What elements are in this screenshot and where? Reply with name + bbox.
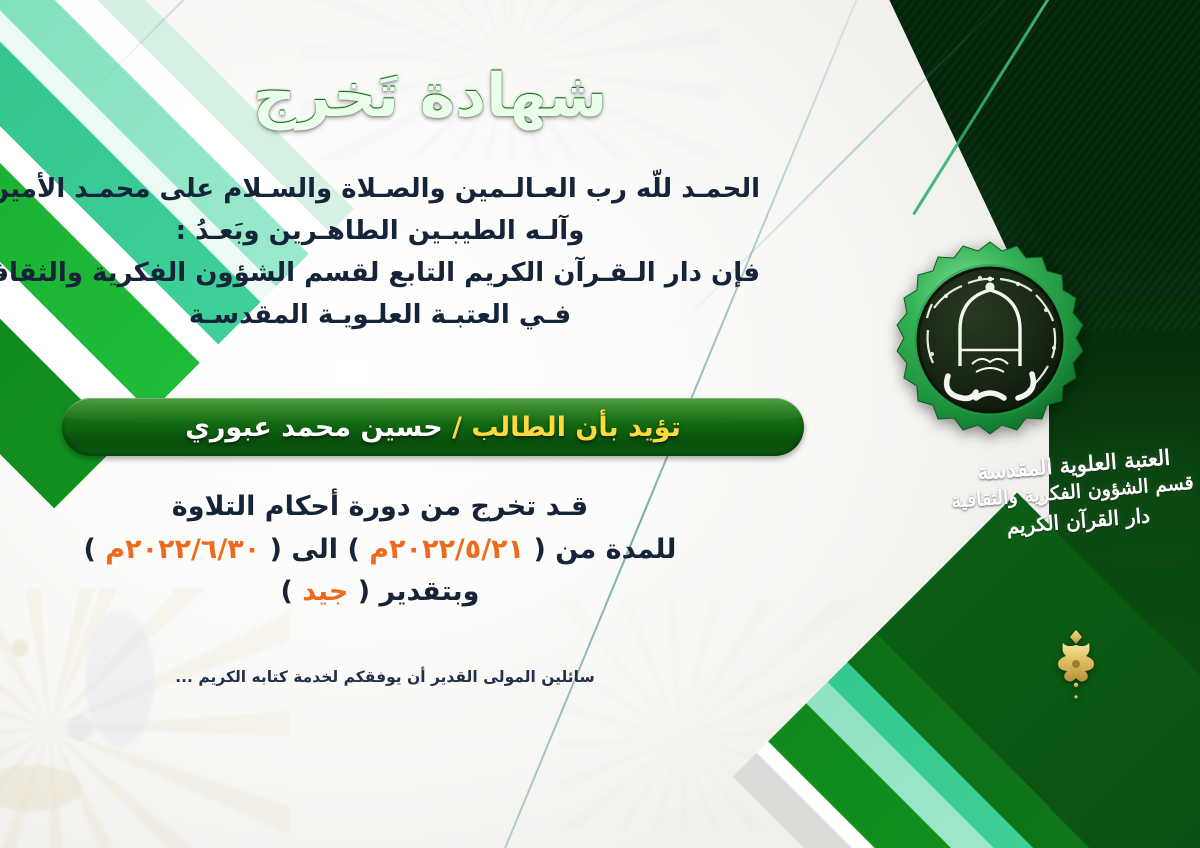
duration-suffix: ) [84, 534, 96, 565]
preamble-line-1: الحمـد للّه رب العـالـمين والصـلاة والسـ… [0, 168, 760, 210]
preamble-line-2: وآلـه الطيبـين الطاهـرين وبَعـدُ : [0, 210, 760, 252]
duration-line: للمدة من ( ٢٠٢٢/٥/٢١م ) الى ( ٢٠٢٢/٦/٣٠م… [0, 529, 760, 572]
shrine-seal-icon [888, 238, 1092, 442]
grade-suffix: ) [281, 576, 293, 607]
preamble-line-4: فـي العتبـة العلـويـة المقدسـة [0, 294, 760, 336]
certificate-content: شهادة تَخرج الحمـد للّه رب العـالـمين وا… [0, 0, 1200, 848]
page-title: شهادة تَخرج [0, 60, 860, 130]
duration-middle: ) الى ( [270, 534, 360, 565]
pendant-top-diamond [1070, 630, 1082, 644]
banner-label: تؤيد بأن الطالب / [452, 412, 681, 443]
duration-prefix: للمدة من ( [534, 534, 677, 565]
student-name-value: حسين محمد عبوري [185, 412, 443, 443]
date-from: ٢٠٢٢/٥/٢١م [369, 534, 524, 565]
closing-statement: سائلين المولى القدير أن يوفقكم لخدمة كتا… [0, 668, 770, 686]
grade-value: جيد [302, 576, 348, 607]
course-line: قـد تخرج من دورة أحكام التلاوة [0, 486, 760, 529]
pendant-center [1072, 660, 1080, 668]
student-name-banner-text: تؤيد بأن الطالب / حسين محمد عبوري [185, 412, 681, 443]
grade-prefix: وبتقدير ( [358, 576, 480, 607]
preamble-line-3: فإن دار الـقـرآن الكريم التابع لقسم الشؤ… [0, 252, 760, 294]
institution-calligraphy: العتبة العلوية المقدسة قسم الشؤون الفكري… [955, 443, 1197, 542]
date-to: ٢٠٢٢/٦/٣٠م [105, 534, 260, 565]
student-name-banner: تؤيد بأن الطالب / حسين محمد عبوري [62, 398, 804, 456]
certificate-canvas: شهادة تَخرج الحمـد للّه رب العـالـمين وا… [0, 0, 1200, 848]
gold-pendant-ornament-icon [1044, 628, 1108, 700]
pendant-tip [1074, 695, 1077, 698]
pendant-tail-bead [1074, 683, 1078, 687]
grade-line: وبتقدير ( جيد ) [0, 571, 760, 614]
preamble-block: الحمـد للّه رب العـالـمين والصـلاة والسـ… [0, 168, 760, 336]
details-block: قـد تخرج من دورة أحكام التلاوة للمدة من … [0, 486, 760, 614]
